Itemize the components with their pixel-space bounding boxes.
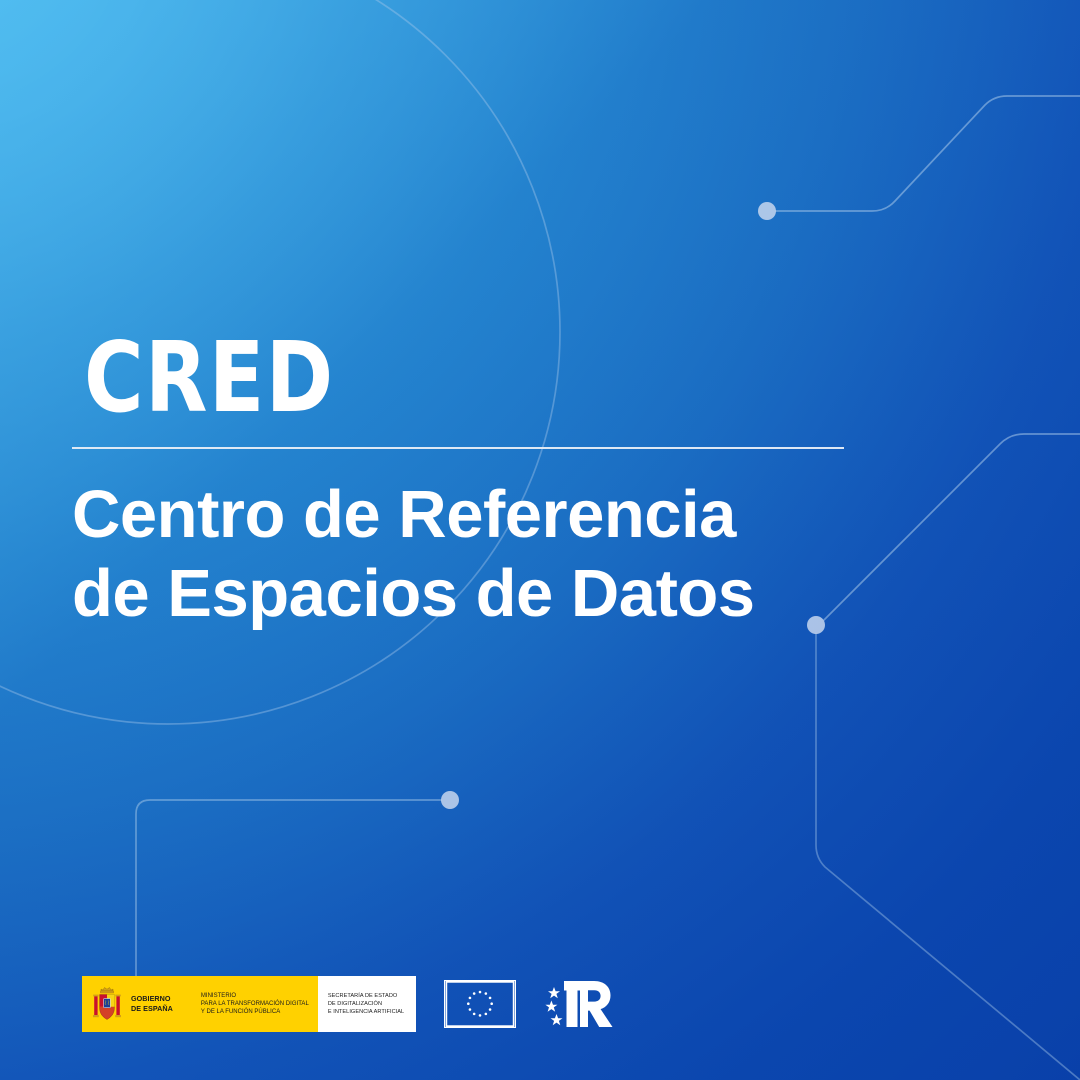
- gobierno-title-line-1: GOBIERNO: [131, 994, 173, 1004]
- ministry-name: MINISTERIO PARA LA TRANSFORMACIÓN DIGITA…: [201, 992, 309, 1016]
- ministry-line-3: Y DE LA FUNCIÓN PÚBLICA: [201, 1008, 309, 1016]
- hero-text-block: CRED Centro de Referencia de Espacios de…: [72, 330, 952, 633]
- page-title-line-1: Centro de Referencia: [72, 475, 882, 554]
- secretariat-line-2: DE DIGITALIZACIÓN: [328, 1000, 404, 1008]
- european-union-flag-icon: [444, 980, 516, 1028]
- institutional-logo-strip: GOBIERNO DE ESPAÑA MINISTERIO PARA LA TR…: [82, 975, 620, 1033]
- gobierno-yellow-panel: GOBIERNO DE ESPAÑA MINISTERIO PARA LA TR…: [82, 976, 318, 1032]
- secretariat-line-3: E INTELIGENCIA ARTIFICIAL: [328, 1008, 404, 1016]
- plan-de-recuperacion-logo-icon: [544, 975, 620, 1033]
- secretariat-white-panel: SECRETARÍA DE ESTADO DE DIGITALIZACIÓN E…: [318, 976, 416, 1032]
- ministry-line-2: PARA LA TRANSFORMACIÓN DIGITAL: [201, 1000, 309, 1008]
- ministry-line-1: MINISTERIO: [201, 992, 309, 1000]
- secretariat-name: SECRETARÍA DE ESTADO DE DIGITALIZACIÓN E…: [328, 992, 404, 1016]
- hero-divider-rule: [72, 447, 844, 449]
- secretariat-line-1: SECRETARÍA DE ESTADO: [328, 992, 404, 1000]
- page-title-line-2: de Espacios de Datos: [72, 554, 882, 633]
- brand-mark-cred: CRED: [84, 330, 891, 425]
- page-title: Centro de Referencia de Espacios de Dato…: [72, 475, 882, 633]
- poster-canvas: CRED Centro de Referencia de Espacios de…: [0, 0, 1080, 1080]
- gobierno-title: GOBIERNO DE ESPAÑA: [131, 994, 173, 1013]
- gobierno-title-line-2: DE ESPAÑA: [131, 1004, 173, 1014]
- spain-coat-of-arms-icon: [92, 984, 122, 1024]
- gobierno-de-espana-logo: GOBIERNO DE ESPAÑA MINISTERIO PARA LA TR…: [82, 976, 416, 1032]
